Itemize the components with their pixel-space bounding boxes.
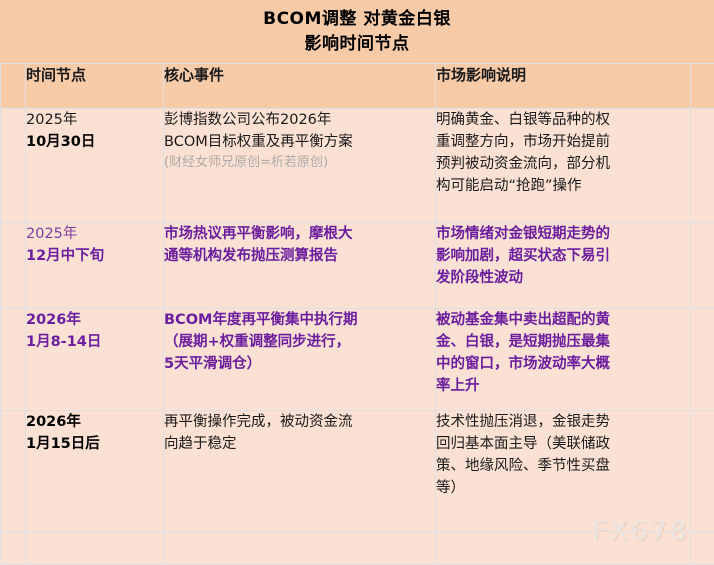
cell-impact: 技术性抛压消退，金银走势 回归基本面主导（美联储政 策、地缘风险、季节性买盘 等… — [436, 411, 691, 532]
cell-impact-empty — [436, 532, 691, 565]
event-line: 5天平滑调仓） — [164, 353, 435, 375]
cell-time: 2025年 12月中下旬 — [26, 223, 164, 309]
time-date: 10月30日 — [26, 131, 163, 153]
impact-line: 技术性抛压消退，金银走势 — [436, 411, 690, 433]
impact-line: 金、白银，是短期抛压最集 — [436, 331, 690, 353]
table-row: 2025年 10月30日 彭博指数公司公布2026年 BCOM目标权重及再平衡方… — [1, 109, 714, 223]
table-header-row: 时间节点 核心事件 市场影响说明 — [1, 64, 714, 109]
row-spacer-left — [1, 532, 26, 565]
event-attribution-note: (财经女师兄原创=析若原创) — [164, 153, 435, 173]
cell-event: 市场热议再平衡影响，摩根大 通等机构发布抛压测算报告 — [164, 223, 436, 309]
row-spacer-left — [1, 223, 26, 309]
data-table: 时间节点 核心事件 市场影响说明 2025年 10月30日 彭博指数公司公布20… — [0, 63, 714, 565]
time-year: 2026年 — [26, 309, 163, 331]
event-line: （展期+权重调整同步进行， — [164, 331, 435, 353]
impact-line: 预判被动资金流向，部分机 — [436, 153, 690, 175]
page-title-line-1: BCOM调整 对黄金白银 — [263, 7, 451, 32]
time-date: 1月15日后 — [26, 433, 163, 455]
cell-event-empty — [164, 532, 436, 565]
time-year: 2025年 — [26, 109, 163, 131]
row-spacer-left — [1, 411, 26, 532]
cell-event: 彭博指数公司公布2026年 BCOM目标权重及再平衡方案 (财经女师兄原创=析若… — [164, 109, 436, 223]
row-spacer-right — [691, 309, 714, 411]
table-row: 2026年 1月15日后 再平衡操作完成，被动资金流 向趋于稳定 技术性抛压消退… — [1, 411, 714, 532]
impact-line: 构可能启动“抢跑”操作 — [436, 175, 690, 197]
impact-line: 被动基金集中卖出超配的黄 — [436, 309, 690, 331]
impact-line: 等） — [436, 477, 690, 499]
row-spacer-right — [691, 223, 714, 309]
impact-line: 中的窗口，市场波动率大概 — [436, 353, 690, 375]
table-row: 2025年 12月中下旬 市场热议再平衡影响，摩根大 通等机构发布抛压测算报告 … — [1, 223, 714, 309]
event-line: 向趋于稳定 — [164, 433, 435, 455]
event-line: 再平衡操作完成，被动资金流 — [164, 411, 435, 433]
row-spacer-left — [1, 309, 26, 411]
cell-impact: 市场情绪对金银短期走势的 影响加剧，超买状态下易引 发阶段性波动 — [436, 223, 691, 309]
impact-line: 发阶段性波动 — [436, 267, 690, 289]
time-date: 12月中下旬 — [26, 245, 163, 267]
time-year: 2026年 — [26, 411, 163, 433]
impact-line: 市场情绪对金银短期走势的 — [436, 223, 690, 245]
row-spacer-right — [691, 411, 714, 532]
cell-time: 2025年 10月30日 — [26, 109, 164, 223]
cell-time: 2026年 1月15日后 — [26, 411, 164, 532]
header-spacer-left — [1, 64, 26, 109]
row-spacer-left — [1, 109, 26, 223]
impact-line: 回归基本面主导（美联储政 — [436, 433, 690, 455]
cell-event: BCOM年度再平衡集中执行期 （展期+权重调整同步进行， 5天平滑调仓） — [164, 309, 436, 411]
impact-line: 率上升 — [436, 375, 690, 397]
time-date: 1月8-14日 — [26, 331, 163, 353]
column-header-event: 核心事件 — [164, 64, 436, 109]
event-line: BCOM年度再平衡集中执行期 — [164, 309, 435, 331]
header-spacer-right — [691, 64, 714, 109]
title-banner: BCOM调整 对黄金白银 影响时间节点 — [0, 0, 714, 63]
cell-event: 再平衡操作完成，被动资金流 向趋于稳定 — [164, 411, 436, 532]
cell-impact: 被动基金集中卖出超配的黄 金、白银，是短期抛压最集 中的窗口，市场波动率大概 率… — [436, 309, 691, 411]
page-title-line-2: 影响时间节点 — [305, 32, 410, 57]
table-row: 2026年 1月8-14日 BCOM年度再平衡集中执行期 （展期+权重调整同步进… — [1, 309, 714, 411]
impact-line: 重调整方向，市场开始提前 — [436, 131, 690, 153]
row-spacer-right — [691, 532, 714, 565]
event-line: 市场热议再平衡影响，摩根大 — [164, 223, 435, 245]
event-line: 通等机构发布抛压测算报告 — [164, 245, 435, 267]
cell-time-empty — [26, 532, 164, 565]
table-row-empty — [1, 532, 714, 565]
event-line: 彭博指数公司公布2026年 — [164, 109, 435, 131]
cell-time: 2026年 1月8-14日 — [26, 309, 164, 411]
time-year: 2025年 — [26, 223, 163, 245]
impact-line: 策、地缘风险、季节性买盘 — [436, 455, 690, 477]
column-header-impact: 市场影响说明 — [436, 64, 691, 109]
row-spacer-right — [691, 109, 714, 223]
infographic-table: BCOM调整 对黄金白银 影响时间节点 时间节点 核心事件 市场影响说明 202… — [0, 0, 714, 565]
impact-line: 明确黄金、白银等品种的权 — [436, 109, 690, 131]
column-header-time: 时间节点 — [26, 64, 164, 109]
impact-line: 影响加剧，超买状态下易引 — [436, 245, 690, 267]
event-line: BCOM目标权重及再平衡方案 — [164, 131, 435, 153]
cell-impact: 明确黄金、白银等品种的权 重调整方向，市场开始提前 预判被动资金流向，部分机 构… — [436, 109, 691, 223]
